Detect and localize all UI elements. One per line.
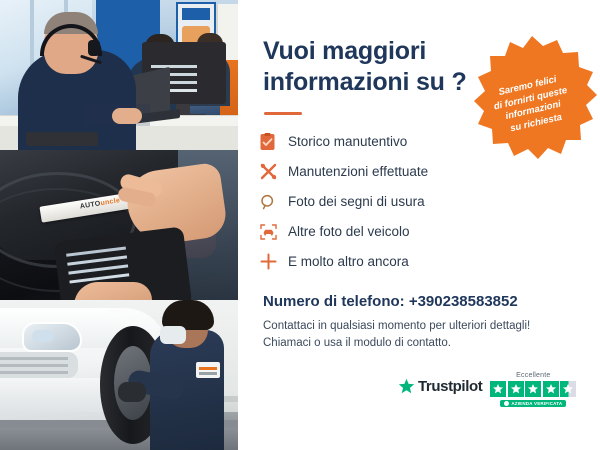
feature-label: Altre foto del veicolo bbox=[288, 224, 410, 239]
feature-item-storico[interactable]: Storico manutentivo bbox=[260, 128, 520, 155]
tools-cross-icon bbox=[260, 163, 288, 180]
star-box-4 bbox=[543, 381, 559, 397]
trustpilot-widget[interactable]: Trustpilot Eccellente AZIENDA VERIFICATA bbox=[398, 372, 598, 407]
inspector-hand-2 bbox=[74, 282, 152, 300]
photo-inspection: AUTOuncle bbox=[0, 150, 238, 300]
trustpilot-name: Trustpilot bbox=[418, 378, 482, 395]
verified-check-icon bbox=[504, 401, 509, 406]
content-panel: Vuoi maggiori informazioni su ? Saremo f… bbox=[238, 0, 600, 450]
feature-item-altre-foto[interactable]: Altre foto del veicolo bbox=[260, 218, 520, 245]
headset-earcup bbox=[88, 40, 100, 56]
trustpilot-logo: Trustpilot bbox=[398, 378, 482, 395]
contact-description: Contattaci in qualsiasi momento per ulte… bbox=[263, 318, 573, 352]
contact-line-1: Contattaci in qualsiasi momento per ulte… bbox=[263, 320, 530, 332]
contact-line-2: Chiamaci o usa il modulo di contatto. bbox=[263, 337, 451, 349]
photo-workshop bbox=[0, 300, 238, 450]
car-grille bbox=[0, 352, 78, 378]
plus-icon bbox=[260, 253, 288, 270]
star-box-5-partial bbox=[560, 381, 576, 397]
feature-item-manutenzioni[interactable]: Manutenzioni effettuate bbox=[260, 158, 520, 185]
star-box-1 bbox=[490, 381, 506, 397]
photo-column: AUTOuncle bbox=[0, 0, 238, 450]
feature-label: Foto dei segni di usura bbox=[288, 194, 425, 209]
mechanic-glove bbox=[118, 382, 146, 402]
feature-label: E molto altro ancora bbox=[288, 254, 409, 269]
verified-business-badge: AZIENDA VERIFICATA bbox=[500, 400, 566, 407]
feature-list: Storico manutentivo Manutenzioni effettu… bbox=[260, 128, 520, 278]
feature-label: Storico manutentivo bbox=[288, 134, 407, 149]
verified-label: AZIENDA VERIFICATA bbox=[511, 401, 562, 406]
star-box-2 bbox=[508, 381, 524, 397]
agent-hand bbox=[112, 108, 142, 124]
car-scan-icon bbox=[260, 224, 288, 240]
uniform-logo-patch bbox=[196, 362, 220, 378]
phone-number[interactable]: Numero di telefono: +390238583852 bbox=[263, 293, 518, 310]
rating-label: Eccellente bbox=[516, 372, 550, 379]
photo-call-centre bbox=[0, 0, 238, 150]
trustpilot-rating: Eccellente AZIENDA VERIFICATA bbox=[490, 372, 576, 407]
car-headlight bbox=[22, 322, 82, 352]
feature-label: Manutenzioni effettuate bbox=[288, 164, 428, 179]
clipboard-check-icon bbox=[260, 133, 288, 151]
star-box-3 bbox=[525, 381, 541, 397]
magnifier-icon bbox=[260, 194, 288, 210]
mechanic-face-mask bbox=[160, 326, 186, 344]
star-rating bbox=[490, 381, 576, 397]
headset-icon bbox=[466, 32, 488, 52]
trustpilot-star-icon bbox=[398, 378, 415, 395]
feature-item-foto-usura[interactable]: Foto dei segni di usura bbox=[260, 188, 520, 215]
desk-tablet bbox=[26, 132, 98, 146]
promo-banner: AUTOuncle bbox=[0, 0, 600, 450]
title-underline-divider bbox=[264, 112, 302, 115]
feature-item-altro-ancora[interactable]: E molto altro ancora bbox=[260, 248, 520, 275]
page-title: Vuoi maggiori informazioni su ? bbox=[263, 36, 493, 98]
